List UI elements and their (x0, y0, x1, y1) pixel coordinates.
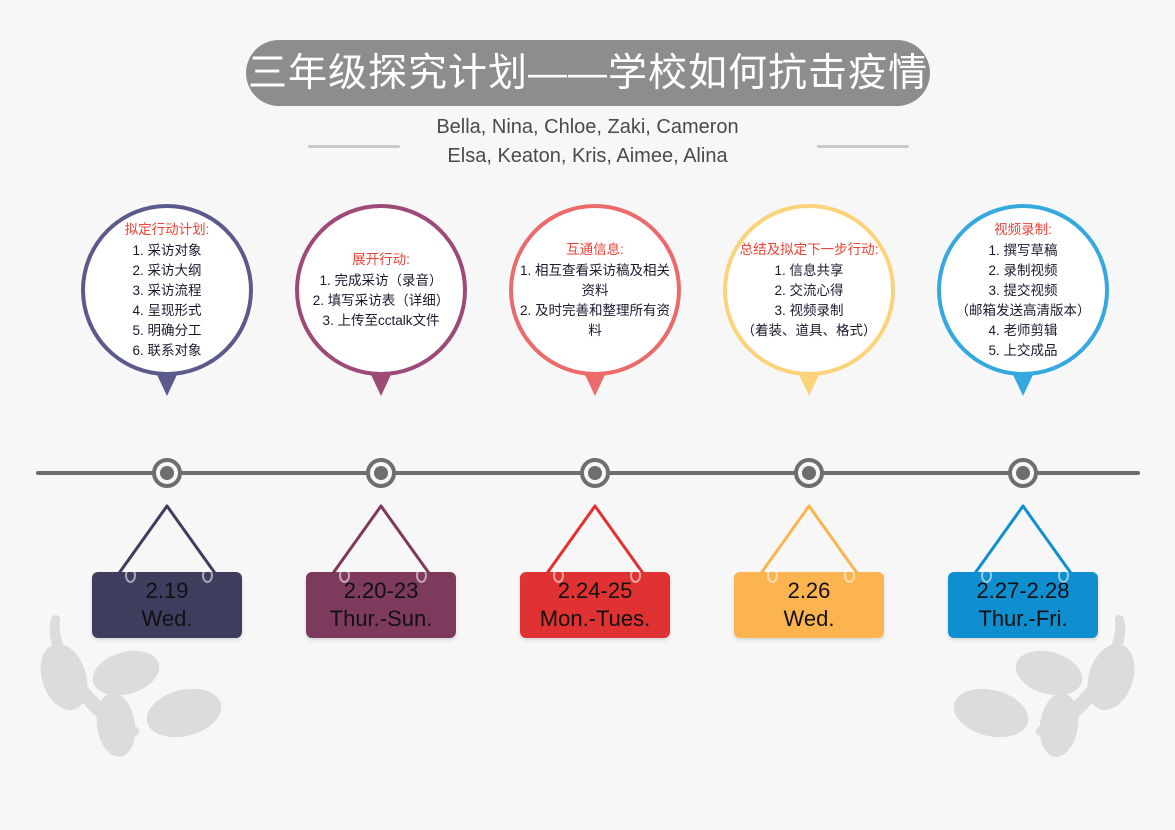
date-card[interactable]: 2.19Wed. (92, 572, 242, 638)
title-banner: 三年级探究计划——学校如何抗击疫情 (246, 40, 930, 106)
balloon-item: 2. 交流心得 (774, 281, 843, 301)
balloon-content: 视频录制:1. 撰写草稿2. 录制视频3. 提交视频（邮箱发送高清版本）4. 老… (945, 212, 1101, 368)
balloon-item: 2. 采访大纲 (132, 261, 201, 281)
timeline-node[interactable] (1008, 458, 1038, 488)
date-card-weekday: Thur.-Fri. (978, 605, 1067, 633)
balloon-heading: 视频录制: (994, 220, 1052, 240)
date-card-date: 2.19 (146, 577, 189, 605)
date-card[interactable]: 2.27-2.28Thur.-Fri. (948, 572, 1098, 638)
milestone-balloon: 展开行动:1. 完成采访（录音）2. 填写采访表（详细）3. 上传至cctalk… (295, 204, 467, 376)
balloon-item: 3. 视频录制 (774, 301, 843, 321)
balloon-item: 6. 联系对象 (132, 341, 201, 361)
balloon-item: 3. 采访流程 (132, 281, 201, 301)
date-card-weekday: Wed. (142, 605, 193, 633)
team-members-line-2: Elsa, Keaton, Kris, Aimee, Alina (0, 142, 1175, 171)
balloon-item: 1. 采访对象 (132, 241, 201, 261)
balloon-item: 1. 撰写草稿 (988, 241, 1057, 261)
date-card-hanger: 2.19Wed. (81, 500, 253, 644)
timeline-node[interactable] (152, 458, 182, 488)
date-card-hanger: 2.26Wed. (723, 500, 895, 644)
timeline-node-dot (1016, 466, 1030, 480)
card-hook-icon (202, 568, 213, 583)
date-card-date: 2.20-23 (344, 577, 419, 605)
timeline-infographic: 三年级探究计划——学校如何抗击疫情 Bella, Nina, Chloe, Za… (0, 0, 1175, 830)
team-members: Bella, Nina, Chloe, Zaki, Cameron Elsa, … (0, 113, 1175, 171)
card-hook-icon (125, 568, 136, 583)
balloon-item: 1. 完成采访（录音） (319, 271, 442, 291)
balloon-heading: 拟定行动计划: (125, 220, 210, 240)
card-hook-icon (339, 568, 350, 583)
balloon-content: 总结及拟定下一步行动:1. 信息共享2. 交流心得3. 视频录制（着装、道具、格… (731, 212, 887, 368)
balloon-item: （邮箱发送高清版本） (956, 301, 1091, 321)
balloon-item: 4. 呈现形式 (132, 301, 201, 321)
page-title: 三年级探究计划——学校如何抗击疫情 (248, 54, 928, 93)
card-hook-icon (844, 568, 855, 583)
hanger-string (509, 500, 681, 578)
card-hook-icon (767, 568, 778, 583)
card-hook-icon (1058, 568, 1069, 583)
timeline-node-dot (160, 466, 174, 480)
timeline-node[interactable] (794, 458, 824, 488)
balloon-item: 5. 明确分工 (132, 321, 201, 341)
date-card-date: 2.26 (788, 577, 831, 605)
card-hook-icon (981, 568, 992, 583)
date-card-date: 2.24-25 (558, 577, 633, 605)
timeline-node-dot (588, 466, 602, 480)
date-card-date: 2.27-2.28 (977, 577, 1070, 605)
balloon-heading: 互通信息: (566, 240, 624, 260)
milestone-balloon: 拟定行动计划:1. 采访对象2. 采访大纲3. 采访流程4. 呈现形式5. 明确… (81, 204, 253, 376)
balloon-item: 4. 老师剪辑 (988, 321, 1057, 341)
timeline-node[interactable] (580, 458, 610, 488)
balloon-item: 2. 录制视频 (988, 261, 1057, 281)
date-card-weekday: Wed. (784, 605, 835, 633)
hanger-string (937, 500, 1109, 578)
date-card[interactable]: 2.20-23Thur.-Sun. (306, 572, 456, 638)
hanger-string (295, 500, 467, 578)
date-card[interactable]: 2.26Wed. (734, 572, 884, 638)
timeline-node-dot (374, 466, 388, 480)
balloon-item: 5. 上交成品 (988, 341, 1057, 361)
date-card-weekday: Mon.-Tues. (540, 605, 650, 633)
balloon-item: （着装、道具、格式） (742, 321, 877, 341)
milestone-balloon: 总结及拟定下一步行动:1. 信息共享2. 交流心得3. 视频录制（着装、道具、格… (723, 204, 895, 376)
balloon-content: 展开行动:1. 完成采访（录音）2. 填写采访表（详细）3. 上传至cctalk… (303, 212, 459, 368)
timeline-node-dot (802, 466, 816, 480)
balloon-item: 1. 相互查看采访稿及相关 (520, 261, 670, 281)
balloon-item: 3. 上传至cctalk文件 (322, 311, 439, 331)
balloon-item: 2. 及时完善和整理所有资 (520, 301, 670, 321)
team-members-line-1: Bella, Nina, Chloe, Zaki, Cameron (0, 113, 1175, 142)
hanger-string (81, 500, 253, 578)
milestone-balloon: 视频录制:1. 撰写草稿2. 录制视频3. 提交视频（邮箱发送高清版本）4. 老… (937, 204, 1109, 376)
card-hook-icon (553, 568, 564, 583)
balloon-heading: 总结及拟定下一步行动: (740, 240, 879, 260)
date-card-hanger: 2.27-2.28Thur.-Fri. (937, 500, 1109, 644)
balloon-item: 1. 信息共享 (774, 261, 843, 281)
date-card-hanger: 2.20-23Thur.-Sun. (295, 500, 467, 644)
date-card-hanger: 2.24-25Mon.-Tues. (509, 500, 681, 644)
balloon-heading: 展开行动: (352, 250, 410, 270)
card-hook-icon (416, 568, 427, 583)
balloon-content: 互通信息:1. 相互查看采访稿及相关资料2. 及时完善和整理所有资料 (517, 212, 673, 368)
date-card-weekday: Thur.-Sun. (330, 605, 433, 633)
hanger-string (723, 500, 895, 578)
timeline-node[interactable] (366, 458, 396, 488)
balloon-item: 3. 提交视频 (988, 281, 1057, 301)
milestone-balloon: 互通信息:1. 相互查看采访稿及相关资料2. 及时完善和整理所有资料 (509, 204, 681, 376)
balloon-item: 资料 (582, 281, 609, 301)
card-hook-icon (630, 568, 641, 583)
date-card[interactable]: 2.24-25Mon.-Tues. (520, 572, 670, 638)
balloon-item: 料 (588, 321, 602, 341)
balloon-content: 拟定行动计划:1. 采访对象2. 采访大纲3. 采访流程4. 呈现形式5. 明确… (89, 212, 245, 368)
balloon-item: 2. 填写采访表（详细） (313, 291, 450, 311)
